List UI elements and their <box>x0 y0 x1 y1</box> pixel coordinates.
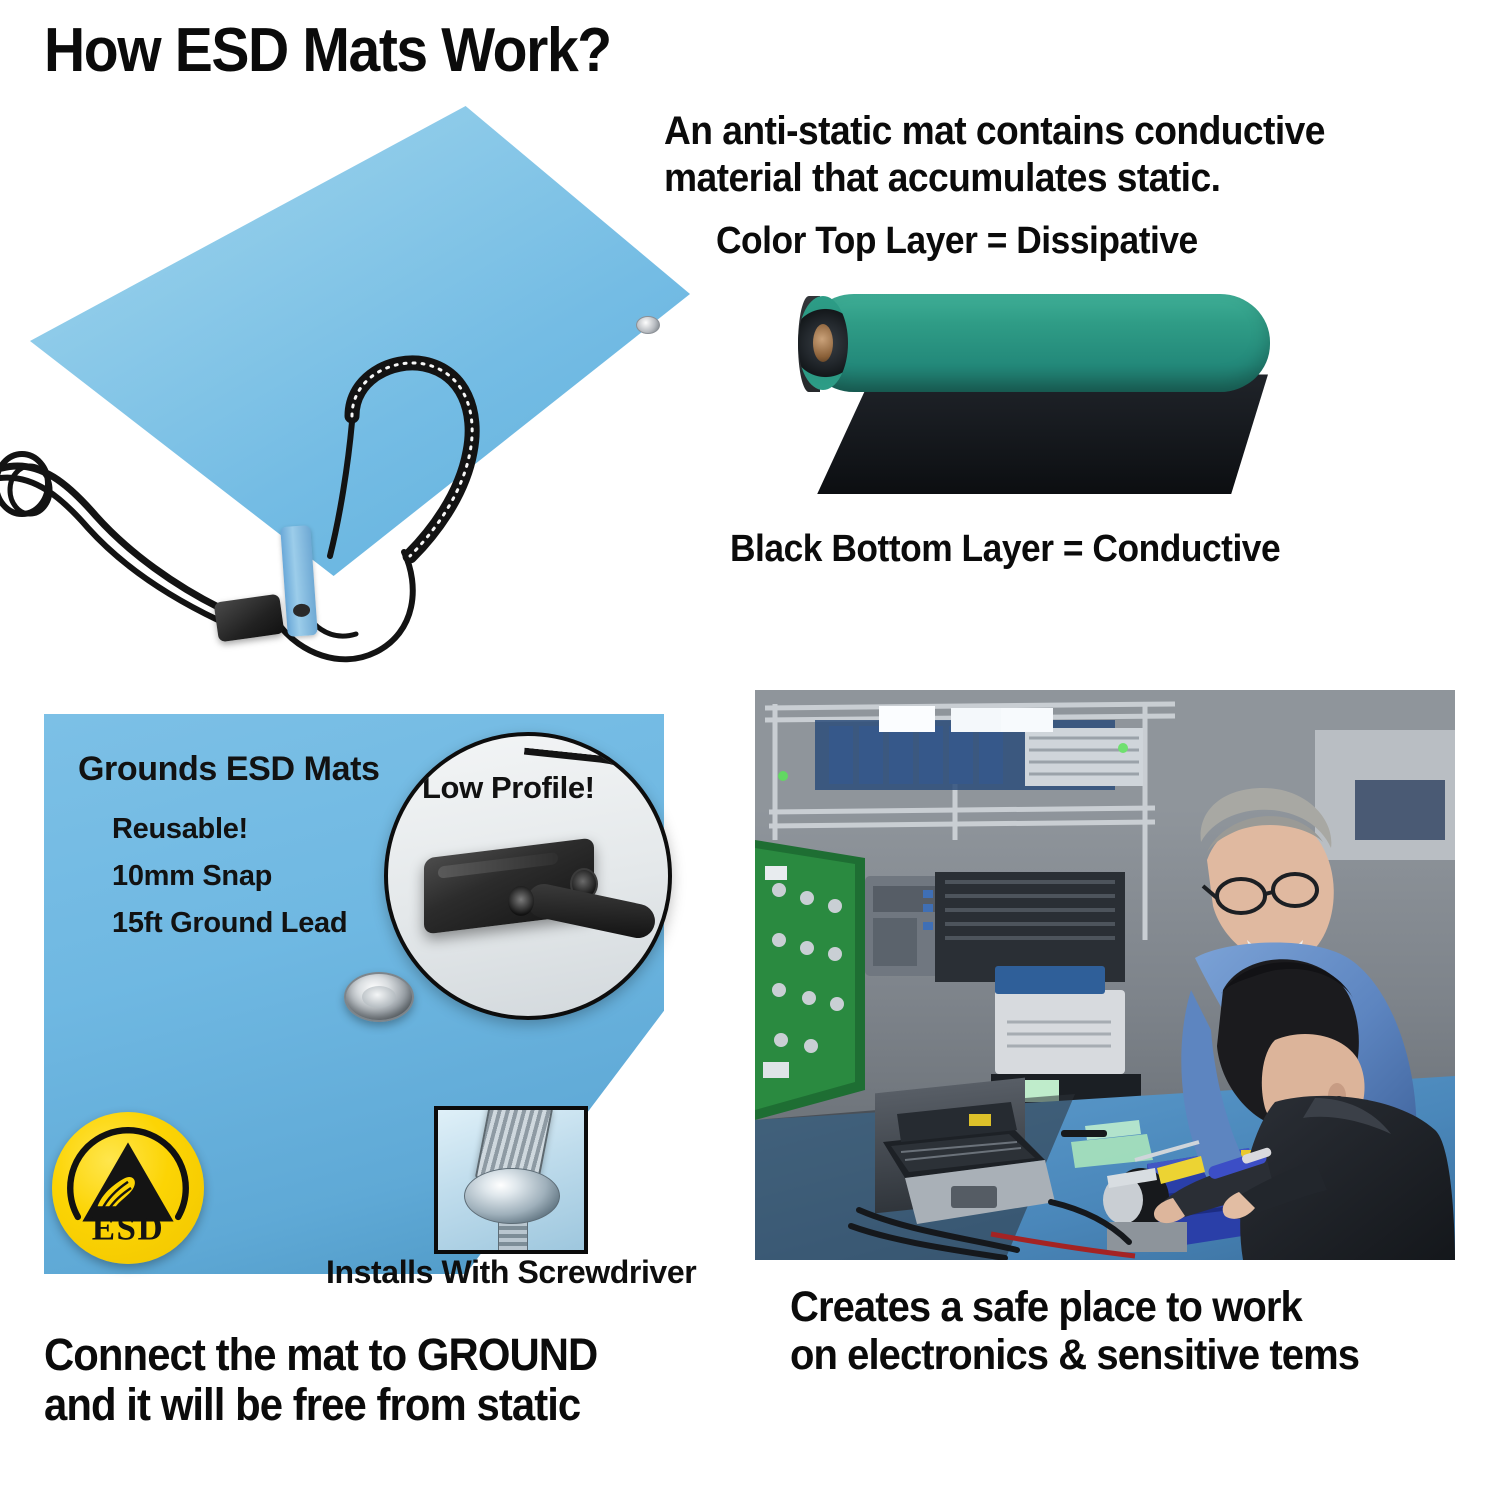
page-title: How ESD Mats Work? <box>44 18 743 83</box>
esd-badge-text: ESD <box>92 1209 165 1248</box>
screwdriver-inset <box>434 1106 588 1254</box>
caption-left: Connect the mat to GROUND and it will be… <box>44 1330 676 1431</box>
panel-snap-icon <box>344 972 414 1022</box>
caption-left-line-1: Connect the mat to GROUND <box>44 1330 676 1380</box>
intro-line-2: material that accumulates static. <box>664 155 1408 202</box>
intro-line-1: An anti-static mat contains conductive <box>664 108 1408 155</box>
roll-top-layer <box>804 294 1270 392</box>
workshop-photo <box>755 690 1455 1260</box>
roll-core-icon <box>813 324 833 362</box>
caption-left-line-2: and it will be free from static <box>44 1380 676 1430</box>
caption-right-line-1: Creates a safe place to work <box>790 1283 1441 1331</box>
grounds-esd-mats-panel: Grounds ESD Mats Reusable! 10mm Snap 15f… <box>44 714 664 1294</box>
connector-plug-icon <box>508 886 534 916</box>
workshop-scene <box>755 690 1455 1260</box>
esd-mat-roll-photo <box>782 272 1282 512</box>
ground-cord-graphic <box>0 86 730 646</box>
low-profile-inset: Low Profile! <box>384 732 672 1020</box>
esd-symbol-badge: ESD <box>52 1112 204 1264</box>
esd-triangle-hand-icon: ESD <box>52 1112 204 1264</box>
blue-mat-photo <box>0 86 730 646</box>
top-layer-label: Color Top Layer = Dissipative <box>716 220 1386 263</box>
bottom-layer-label: Black Bottom Layer = Conductive <box>730 528 1437 571</box>
screw-head-icon <box>464 1168 560 1224</box>
caption-right-line-2: on electronics & sensitive tems <box>790 1331 1441 1379</box>
screwdriver-caption: Installs With Screwdriver <box>326 1254 726 1291</box>
low-profile-label: Low Profile! <box>422 770 595 806</box>
intro-text: An anti-static mat contains conductive m… <box>664 108 1408 202</box>
caption-right: Creates a safe place to work on electron… <box>790 1283 1441 1379</box>
